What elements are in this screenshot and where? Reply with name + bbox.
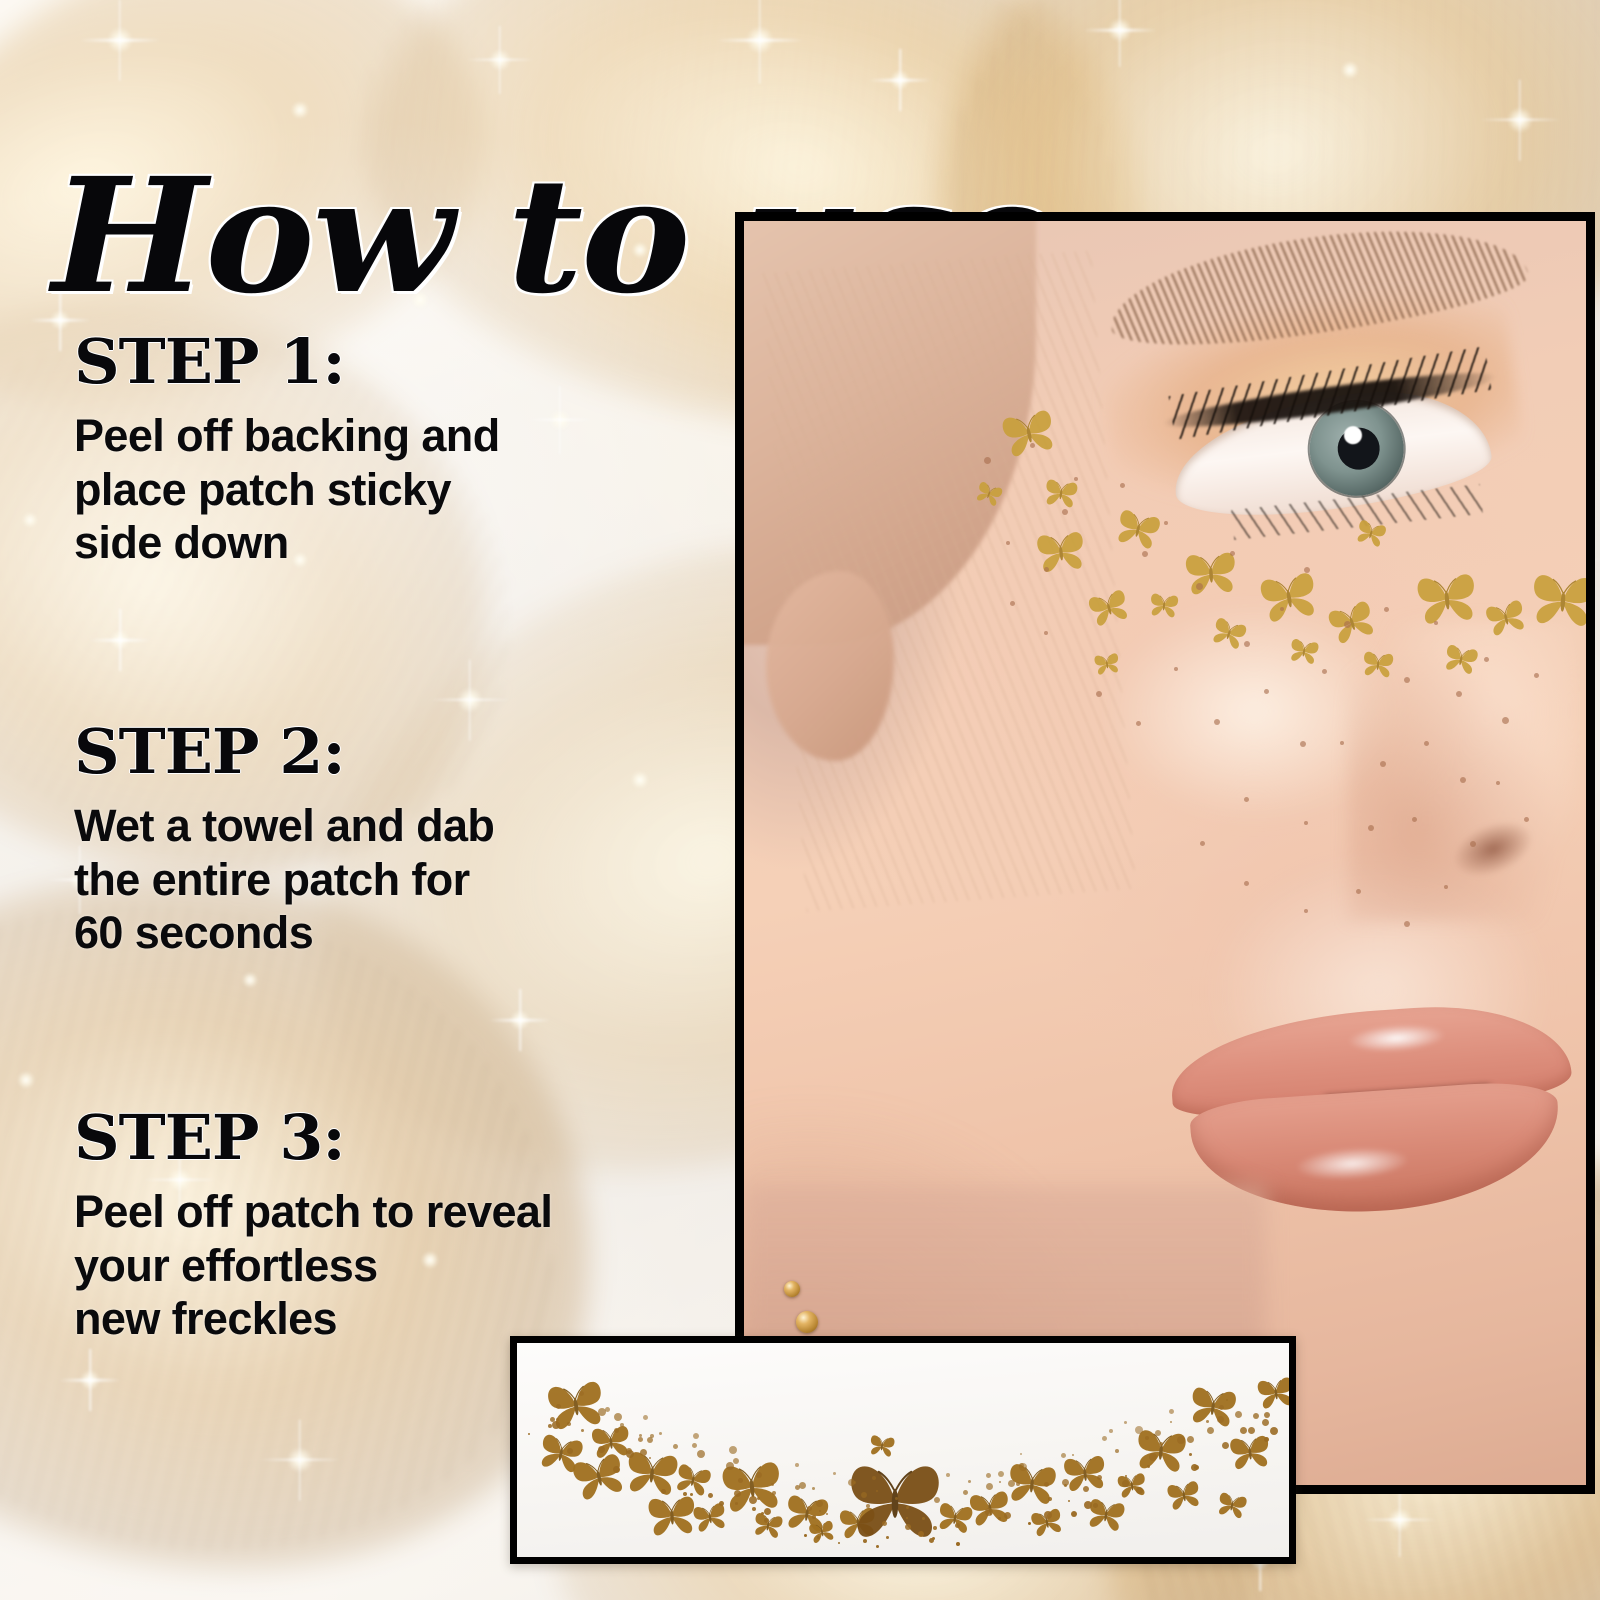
patch-butterfly — [937, 1503, 973, 1538]
patch-butterfly — [647, 1495, 697, 1542]
patch-dot — [816, 1500, 823, 1507]
butterfly-freckle-decal — [1184, 551, 1238, 596]
freckle-dot — [1304, 567, 1310, 573]
patch-dot — [1102, 1436, 1107, 1441]
patch-dot — [1235, 1411, 1242, 1418]
patch-dot — [735, 1502, 738, 1505]
patch-dot — [567, 1422, 571, 1426]
patch-dot — [833, 1472, 836, 1475]
freckle-dot — [1244, 641, 1250, 647]
butterfly-freckle-decal — [1002, 411, 1056, 456]
sparkle-starburst — [59, 1349, 121, 1411]
step-1-line-1: Peel off backing and — [74, 410, 500, 461]
step-2-line-3: 60 seconds — [74, 907, 313, 958]
patch-dot — [998, 1517, 1001, 1520]
butterfly-freckle-decal — [1289, 639, 1319, 664]
freckle-dot — [1214, 719, 1220, 725]
patch-dot — [999, 1481, 1001, 1483]
model-photo-frame — [735, 212, 1595, 1494]
freckle-dot — [1164, 521, 1168, 525]
butterfly-freckle-decal — [1044, 479, 1078, 508]
freckle-dot — [1460, 777, 1466, 783]
step-3-title: STEP 3: — [74, 1106, 686, 1169]
sparkle-starburst — [466, 26, 534, 94]
product-patch-card — [510, 1336, 1296, 1564]
step-3-line-2: your effortless — [74, 1240, 378, 1291]
step-block-3: STEP 3: Peel off patch to reveal your ef… — [74, 1106, 674, 1346]
patch-dot — [817, 1536, 820, 1539]
patch-dot — [1097, 1475, 1102, 1480]
patch-dot — [1222, 1442, 1229, 1449]
patch-dot — [1016, 1482, 1020, 1486]
patch-dot — [550, 1417, 555, 1422]
patch-butterfly — [847, 1461, 943, 1547]
patch-dot — [761, 1512, 764, 1515]
patch-dot — [1068, 1500, 1070, 1502]
freckle-dot — [1196, 583, 1203, 590]
patch-dot — [1155, 1430, 1161, 1436]
patch-dot — [986, 1473, 991, 1478]
patch-dot — [866, 1504, 870, 1508]
necklace-bead — [796, 1311, 818, 1333]
patch-dot — [1044, 1511, 1052, 1519]
freckle-dot — [1304, 909, 1308, 913]
patch-dot — [649, 1457, 651, 1459]
freckle-dot — [1006, 541, 1010, 545]
patch-butterfly — [1217, 1493, 1247, 1523]
freckle-dot — [1044, 631, 1048, 635]
patch-dot — [697, 1450, 705, 1458]
step-1-body: Peel off backing and place patch sticky … — [74, 409, 674, 570]
freckle-dot — [1030, 443, 1035, 448]
patch-dot — [1253, 1413, 1259, 1419]
patch-dot — [905, 1524, 911, 1530]
patch-dot — [985, 1508, 993, 1516]
butterfly-freckle-decal — [1362, 651, 1394, 678]
patch-dot — [1240, 1427, 1247, 1434]
freckle-dot — [1434, 621, 1438, 625]
patch-dot — [799, 1482, 806, 1489]
patch-dot — [812, 1487, 815, 1490]
how-to-use-poster: How to use STEP 1: Peel off backing and … — [0, 0, 1600, 1600]
patch-dot — [613, 1466, 620, 1473]
butterfly-freckle-decal — [1356, 521, 1386, 546]
patch-dot — [933, 1526, 937, 1530]
butterfly-freckle-decal — [1116, 511, 1160, 548]
patch-dot — [932, 1537, 935, 1540]
patch-dot — [579, 1391, 584, 1396]
butterfly-freckle-decal — [1149, 593, 1179, 618]
step-1-line-2: place patch sticky — [74, 464, 451, 515]
necklace-bead — [784, 1281, 800, 1297]
patch-dot — [906, 1506, 909, 1509]
patch-dot — [1122, 1480, 1129, 1487]
freckle-dot — [1200, 841, 1205, 846]
butterfly-freckle-decal — [1089, 591, 1129, 625]
patch-butterfly — [869, 1435, 895, 1462]
freckle-dot — [1424, 741, 1429, 746]
patch-dot — [772, 1491, 776, 1495]
patch-dot — [640, 1449, 647, 1456]
freckle-dot — [1174, 667, 1178, 671]
freckle-dot — [1264, 689, 1269, 694]
step-3-body: Peel off patch to reveal your effortless… — [74, 1185, 674, 1346]
freckle-dot — [1322, 669, 1327, 674]
patch-dot — [1194, 1465, 1199, 1470]
patch-dot — [738, 1478, 743, 1483]
freckle-dot — [1496, 781, 1500, 785]
sparkle — [17, 1071, 35, 1089]
patch-dot — [812, 1515, 816, 1519]
patch-dot — [650, 1434, 654, 1438]
patch-dot — [934, 1497, 940, 1503]
freckle-dot — [1300, 741, 1306, 747]
patch-butterfly — [1167, 1481, 1201, 1515]
butterfly-freckle-decal — [976, 483, 1002, 505]
patch-dot — [683, 1492, 687, 1496]
patch-dot — [659, 1432, 662, 1435]
patch-dot — [1071, 1511, 1077, 1517]
patch-butterfly — [1257, 1377, 1289, 1414]
freckle-dot — [1356, 889, 1361, 894]
patch-dot — [1159, 1442, 1163, 1446]
patch-dot — [1028, 1522, 1031, 1525]
patch-dot — [1262, 1419, 1269, 1426]
patch-butterfly — [573, 1455, 625, 1504]
patch-dot — [556, 1404, 561, 1409]
patch-dot — [1206, 1420, 1209, 1423]
patch-dot — [1248, 1427, 1255, 1434]
patch-dot — [956, 1542, 960, 1546]
patch-dot — [1064, 1484, 1067, 1487]
freckle-dot — [1534, 673, 1539, 678]
patch-dot — [882, 1521, 887, 1526]
freckle-dot — [1404, 677, 1410, 683]
patch-dot — [968, 1480, 971, 1483]
sparkle-starburst — [717, 0, 804, 83]
freckle-dot — [1280, 607, 1284, 611]
patch-butterfly — [675, 1465, 711, 1500]
butterfly-freckle-decal — [1036, 531, 1086, 573]
patch-dot — [690, 1493, 693, 1496]
patch-dot — [598, 1446, 605, 1453]
patch-dot — [692, 1443, 697, 1448]
freckle-dot — [1368, 825, 1374, 831]
freckle-dot — [1244, 881, 1249, 886]
patch-dot — [643, 1415, 648, 1420]
patch-dot — [986, 1483, 993, 1490]
patch-dot — [638, 1437, 643, 1442]
freckle-dot — [1524, 817, 1529, 822]
patch-dot — [1264, 1412, 1270, 1418]
sparkle — [1341, 61, 1359, 79]
step-2-line-2: the entire patch for — [74, 854, 470, 905]
patch-dot — [757, 1497, 760, 1500]
sparkle-starburst — [80, 0, 161, 80]
freckle-dot — [1404, 921, 1410, 927]
sparkle-starburst — [489, 989, 551, 1051]
freckle-dot — [1074, 477, 1078, 481]
freckle-dot — [1380, 761, 1386, 767]
patch-dot — [528, 1433, 530, 1435]
patch-dot — [861, 1492, 867, 1498]
patch-dot — [1124, 1421, 1127, 1424]
patch-dot — [567, 1448, 573, 1454]
sparkle — [22, 512, 38, 528]
butterfly-freckle-decal — [1094, 653, 1120, 675]
patch-dot — [1135, 1426, 1143, 1434]
freckle-dot — [1244, 797, 1249, 802]
sparkle-starburst — [1480, 80, 1561, 161]
butterfly-freckle-decal — [1260, 573, 1318, 622]
patch-dot — [605, 1407, 610, 1412]
step-2-line-1: Wet a towel and dab — [74, 800, 494, 851]
freckle-dot — [1044, 567, 1049, 572]
patch-butterfly — [1007, 1463, 1057, 1510]
butterfly-freckle-decal — [1444, 645, 1478, 674]
patch-dot — [1115, 1449, 1119, 1453]
step-1-title: STEP 1: — [74, 330, 686, 393]
freckle-dot — [1344, 621, 1351, 628]
patch-dot — [1187, 1436, 1194, 1443]
patch-dot — [922, 1517, 925, 1520]
patch-dot — [1149, 1453, 1157, 1461]
patch-dot — [771, 1483, 774, 1486]
step-2-title: STEP 2: — [74, 720, 686, 783]
freckle-dot — [1470, 841, 1476, 847]
patch-dot — [673, 1444, 678, 1449]
sparkle-starburst — [869, 49, 931, 111]
freckle-dot — [1412, 817, 1417, 822]
patch-dot — [749, 1496, 757, 1504]
patch-dot — [1270, 1427, 1278, 1435]
patch-dot — [1170, 1421, 1172, 1423]
patch-dot — [1061, 1453, 1066, 1458]
sparkle-starburst — [1083, 0, 1157, 67]
freckle-dot — [1010, 601, 1015, 606]
patch-dot — [1189, 1453, 1192, 1456]
patch-butterfly — [625, 1451, 679, 1501]
patch-dot — [795, 1485, 800, 1490]
patch-butterfly — [809, 1521, 835, 1548]
sparkle-starburst — [89, 609, 151, 671]
patch-dot — [639, 1434, 642, 1437]
butterfly-freckle-decal — [1530, 573, 1586, 628]
patch-dot — [1084, 1501, 1092, 1509]
step-2-body: Wet a towel and dab the entire patch for… — [74, 799, 674, 960]
sparkle-starburst — [260, 1420, 341, 1501]
freckle-dot — [1136, 721, 1141, 726]
patch-dot — [918, 1531, 924, 1537]
patch-dot — [693, 1433, 699, 1439]
patch-dot — [1177, 1436, 1185, 1444]
freckle-dot — [1096, 691, 1102, 697]
step-block-1: STEP 1: Peel off backing and place patch… — [74, 330, 674, 570]
freckle-dot — [1120, 483, 1125, 488]
patch-dot — [946, 1473, 950, 1477]
patch-dot — [795, 1463, 799, 1467]
patch-dot — [729, 1446, 737, 1454]
patch-dot — [1219, 1405, 1224, 1410]
step-3-line-1: Peel off patch to reveal — [74, 1186, 552, 1237]
freckle-dot — [1230, 551, 1235, 556]
patch-dot — [734, 1490, 741, 1497]
patch-butterfly — [1189, 1387, 1237, 1432]
patch-dot — [1207, 1427, 1214, 1434]
patch-dot — [876, 1545, 879, 1548]
butterfly-freckle-decal — [1212, 619, 1246, 648]
sparkle — [242, 972, 258, 988]
patch-dot — [708, 1493, 713, 1498]
patch-dot — [998, 1471, 1004, 1477]
patch-dot — [1169, 1409, 1174, 1414]
sparkle — [291, 101, 309, 119]
step-block-2: STEP 2: Wet a towel and dab the entire p… — [74, 720, 674, 960]
model-photo — [744, 221, 1586, 1485]
patch-dot — [756, 1472, 762, 1478]
patch-dot — [1147, 1465, 1150, 1468]
step-3-line-3: new freckles — [74, 1293, 337, 1344]
patch-dot — [661, 1489, 666, 1494]
freckle-dot — [984, 457, 991, 464]
butterfly-freckle-decal — [1486, 601, 1526, 635]
patch-dot — [1020, 1453, 1022, 1455]
freckle-dot — [1502, 717, 1509, 724]
patch-dot — [1217, 1416, 1224, 1423]
patch-dot — [626, 1448, 632, 1454]
freckle-dot — [1444, 885, 1448, 889]
patch-dot — [876, 1490, 878, 1492]
freckle-dot — [1456, 691, 1462, 697]
product-patch-strip — [517, 1343, 1289, 1557]
freckle-dot — [1062, 509, 1068, 515]
freckle-dot — [1384, 607, 1389, 612]
step-1-line-3: side down — [74, 517, 289, 568]
freckle-dot — [1304, 821, 1308, 825]
patch-dot — [733, 1458, 739, 1464]
patch-dot — [719, 1501, 724, 1506]
patch-dot — [1093, 1503, 1098, 1508]
patch-dot — [1109, 1429, 1113, 1433]
patch-dot — [895, 1497, 898, 1500]
patch-dot — [752, 1507, 756, 1511]
freckle-dot — [1484, 657, 1489, 662]
patch-dot — [614, 1413, 622, 1421]
butterfly-freckle-decal — [1416, 573, 1478, 625]
patch-dot — [1083, 1486, 1089, 1492]
freckle-dot — [1340, 741, 1344, 745]
patch-dot — [1044, 1482, 1049, 1487]
patch-dot — [819, 1510, 821, 1512]
butterfly-freckle-decal — [1329, 603, 1375, 642]
freckle-dot — [1142, 551, 1148, 557]
